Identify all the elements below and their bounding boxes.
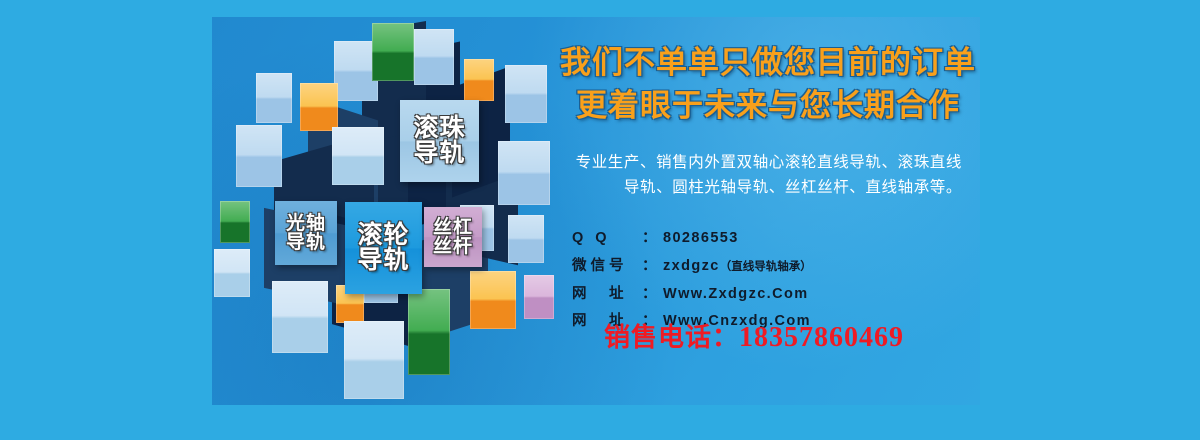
contact-note: （直线导轨轴承） <box>720 256 812 278</box>
cube-orange <box>300 83 338 131</box>
contact-label: 网 址 <box>572 281 642 309</box>
tile-line-2: 导轨 <box>357 248 409 274</box>
contact-colon: ： <box>642 225 657 253</box>
tile-gunzhu-daogui[interactable]: 滚珠 导轨 <box>400 100 479 182</box>
cube-green <box>220 201 250 243</box>
contact-row-wechat: 微信号 ： zxdgzc （直线导轨轴承） <box>566 253 976 281</box>
headline: 我们不单单只做您目前的订单 更着眼于未来与您长期合作 <box>556 42 980 128</box>
cube-lightblue <box>414 29 454 85</box>
cube-lightblue <box>236 125 282 187</box>
cube-green <box>372 23 414 81</box>
contact-label: 微信号 <box>572 253 642 281</box>
headline-line-1: 我们不单单只做您目前的订单 <box>556 42 980 85</box>
cube-lightblue <box>344 321 404 399</box>
cube-lightblue <box>256 73 292 123</box>
tile-line-1: 光轴 <box>286 214 326 233</box>
tile-gunlun-daogui[interactable]: 滚轮 导轨 <box>345 202 422 294</box>
tile-line-1: 滚珠 <box>413 116 465 142</box>
sales-phone[interactable]: 销售电话：18357860469 <box>544 317 964 354</box>
cube-orange <box>464 59 494 101</box>
headline-line-2: 更着眼于未来与您长期合作 <box>556 85 980 128</box>
banner-copy: 我们不单单只做您目前的订单 更着眼于未来与您长期合作 专业生产、销售内外置双轴心… <box>544 17 980 405</box>
cube-lightblue <box>332 127 384 185</box>
cube-lightblue <box>505 65 547 123</box>
banner-panel: 滚珠 导轨 光轴 导轨 滚轮 导轨 丝杠 丝杆 我们不单单只做您目前的订单 更着… <box>212 17 980 405</box>
product-blurb: 专业生产、销售内外置双轴心滚轮直线导轨、滚珠直线导轨、圆柱光轴导轨、丝杠丝杆、直… <box>562 150 962 200</box>
sales-phone-number[interactable]: 18357860469 <box>739 322 904 353</box>
contact-value[interactable]: 80286553 <box>663 225 739 253</box>
contact-value[interactable]: zxdgzc <box>663 253 720 281</box>
exploded-cubes-graphic: 滚珠 导轨 光轴 导轨 滚轮 导轨 丝杠 丝杆 <box>212 17 562 405</box>
contact-label: Q Q <box>572 225 642 253</box>
tile-line-1: 滚轮 <box>357 223 409 249</box>
cube-orange <box>470 271 516 329</box>
contact-colon: ： <box>642 253 657 281</box>
sales-phone-label: 销售电话： <box>604 322 739 352</box>
cube-lightblue <box>214 249 250 297</box>
tile-line-1: 丝杠 <box>433 218 473 237</box>
tile-line-2: 导轨 <box>413 141 465 167</box>
cube-lightblue <box>272 281 328 353</box>
contact-colon: ： <box>642 281 657 309</box>
contact-value[interactable]: Www.Zxdgzc.Com <box>663 281 809 309</box>
cube-lightblue <box>498 141 550 205</box>
cube-green <box>408 289 450 375</box>
tile-line-2: 导轨 <box>286 233 326 252</box>
tile-line-2: 丝杆 <box>433 237 473 256</box>
banner-root: 滚珠 导轨 光轴 导轨 滚轮 导轨 丝杠 丝杆 我们不单单只做您目前的订单 更着… <box>0 0 1200 440</box>
contact-row-qq: Q Q ： 80286553 <box>566 225 976 253</box>
cube-lightblue <box>508 215 544 263</box>
tile-guangzhou-daogui[interactable]: 光轴 导轨 <box>275 201 337 265</box>
tile-sigang-sigan[interactable]: 丝杠 丝杆 <box>424 207 482 267</box>
contact-row-website-1: 网 址 ： Www.Zxdgzc.Com <box>566 281 976 309</box>
